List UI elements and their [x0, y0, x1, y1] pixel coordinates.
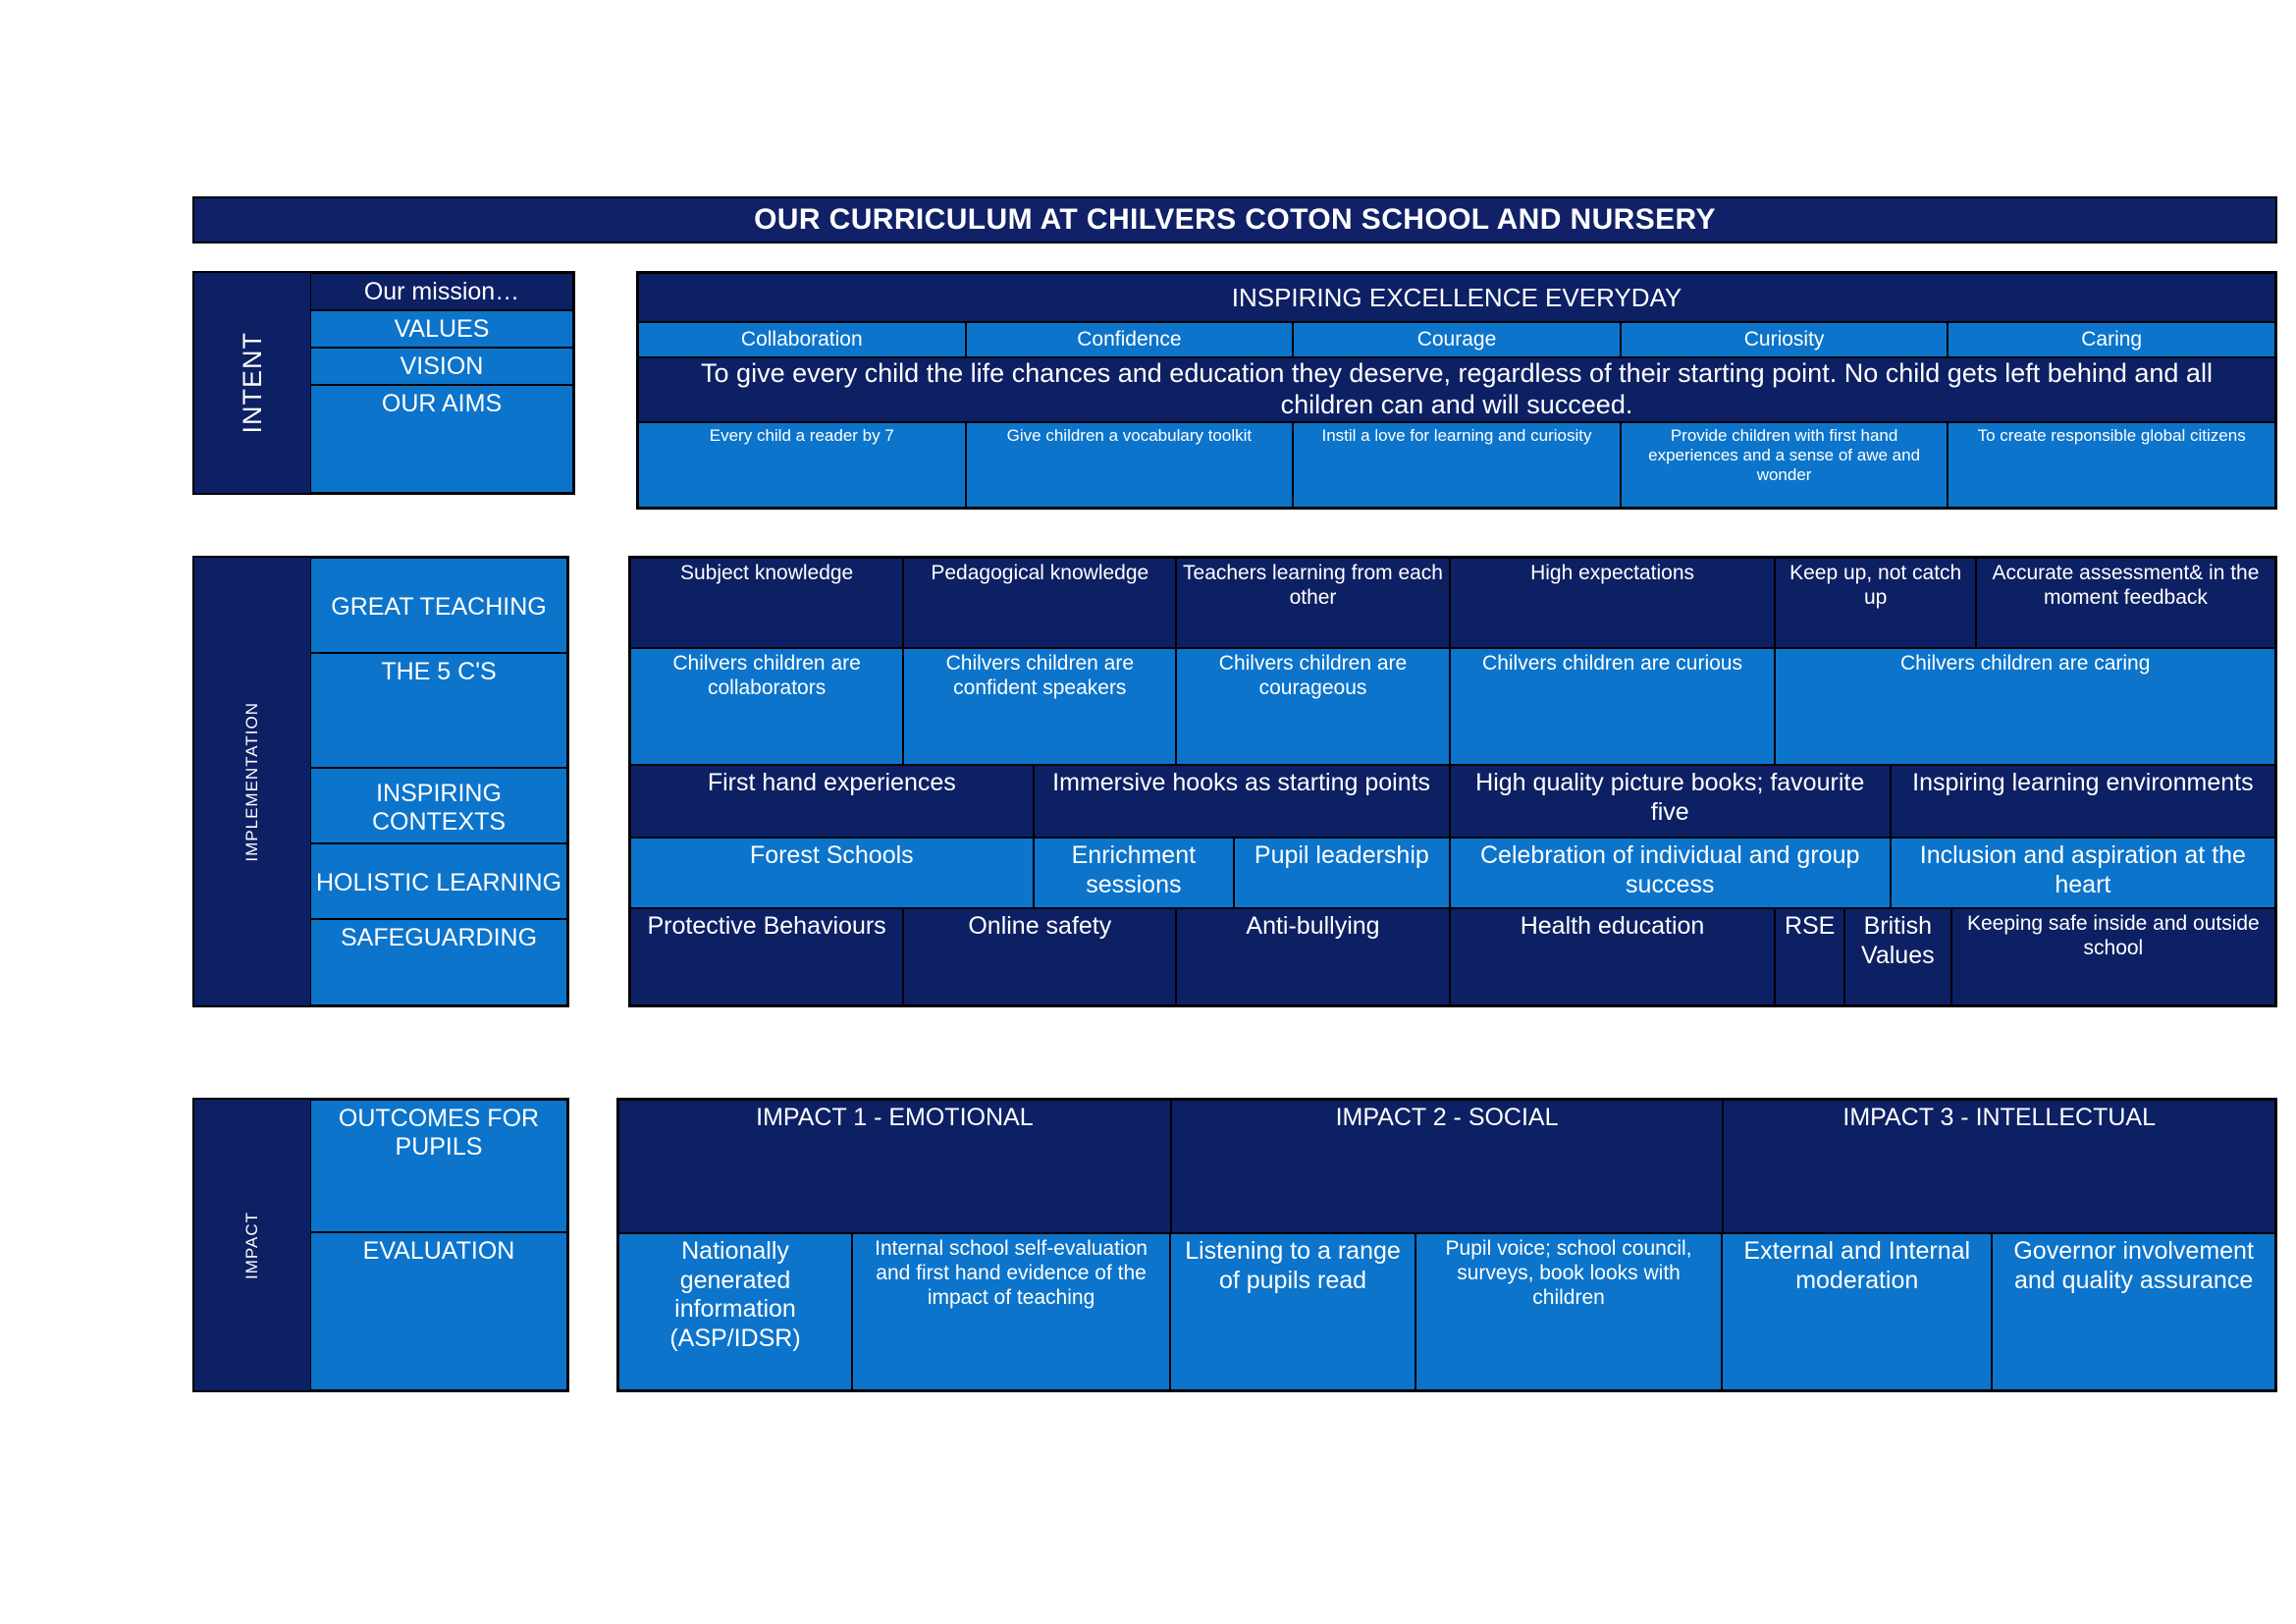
- sg-protective-behaviours[interactable]: Protective Behaviours: [630, 908, 903, 1005]
- impact-evaluation-row: Nationally generated information (ASP/ID…: [618, 1233, 2275, 1390]
- hl-forest-schools[interactable]: Forest Schools: [630, 838, 1034, 908]
- fivec-collaborators[interactable]: Chilvers children are collaborators: [630, 648, 903, 765]
- implementation-content: Subject knowledge Pedagogical knowledge …: [628, 556, 2277, 1007]
- hl-pupil-leadership[interactable]: Pupil leadership: [1234, 838, 1450, 908]
- gt-high-expectations[interactable]: High expectations: [1450, 558, 1776, 648]
- five-cs-row: Chilvers children are collaborators Chil…: [630, 648, 2275, 765]
- impact-label-block: IMPACT OUTCOMES FOR PUPILS EVALUATION: [192, 1098, 569, 1392]
- sg-health-education[interactable]: Health education: [1450, 908, 1776, 1005]
- eval-pupil-voice[interactable]: Pupil voice; school council, surveys, bo…: [1415, 1233, 1722, 1390]
- aim-reader-by-7[interactable]: Every child a reader by 7: [638, 422, 966, 508]
- gt-teachers-learning[interactable]: Teachers learning from each other: [1176, 558, 1449, 648]
- impact-sidebar: OUTCOMES FOR PUPILS EVALUATION: [310, 1100, 567, 1390]
- inspiring-contexts-row: First hand experiences Immersive hooks a…: [630, 765, 2275, 838]
- sidebar-item-evaluation[interactable]: EVALUATION: [310, 1232, 567, 1390]
- impact-outcomes-row: IMPACT 1 - EMOTIONAL IMPACT 2 - SOCIAL I…: [618, 1100, 2275, 1233]
- fivec-confident-speakers[interactable]: Chilvers children are confident speakers: [903, 648, 1176, 765]
- impact-axis-label-text: IMPACT: [242, 1212, 262, 1279]
- impact-1-emotional[interactable]: IMPACT 1 - EMOTIONAL: [618, 1100, 1171, 1233]
- impact-2-social[interactable]: IMPACT 2 - SOCIAL: [1171, 1100, 1724, 1233]
- implementation-label-block: IMPLEMENTATION GREAT TEACHING THE 5 C'S …: [192, 556, 569, 1007]
- ic-immersive-hooks[interactable]: Immersive hooks as starting points: [1034, 765, 1450, 838]
- impact-3-intellectual[interactable]: IMPACT 3 - INTELLECTUAL: [1723, 1100, 2275, 1233]
- sg-online-safety[interactable]: Online safety: [903, 908, 1176, 1005]
- eval-internal-self-evaluation[interactable]: Internal school self-evaluation and firs…: [852, 1233, 1170, 1390]
- sg-anti-bullying[interactable]: Anti-bullying: [1176, 908, 1449, 1005]
- gt-keep-up-not-catch-up[interactable]: Keep up, not catch up: [1775, 558, 1975, 648]
- sidebar-item-the-5-cs[interactable]: THE 5 C'S: [310, 653, 567, 768]
- value-confidence[interactable]: Confidence: [966, 322, 1294, 357]
- aim-vocabulary-toolkit[interactable]: Give children a vocabulary toolkit: [966, 422, 1294, 508]
- impact-axis-label: IMPACT: [194, 1100, 310, 1390]
- intent-vision-statement: To give every child the life chances and…: [638, 357, 2275, 422]
- hl-inclusion-aspiration[interactable]: Inclusion and aspiration at the heart: [1891, 838, 2275, 908]
- sidebar-item-inspiring-contexts[interactable]: INSPIRING CONTEXTS: [310, 768, 567, 843]
- eval-listening-pupils-read[interactable]: Listening to a range of pupils read: [1170, 1233, 1415, 1390]
- aim-global-citizens[interactable]: To create responsible global citizens: [1948, 422, 2275, 508]
- curriculum-diagram: OUR CURRICULUM AT CHILVERS COTON SCHOOL …: [0, 0, 2296, 1624]
- ic-picture-books[interactable]: High quality picture books; favourite fi…: [1450, 765, 1891, 838]
- sg-british-values[interactable]: British Values: [1844, 908, 1951, 1005]
- value-caring[interactable]: Caring: [1948, 322, 2275, 357]
- ic-inspiring-environments[interactable]: Inspiring learning environments: [1891, 765, 2275, 838]
- sidebar-item-values[interactable]: VALUES: [310, 310, 573, 348]
- eval-external-internal-moderation[interactable]: External and Internal moderation: [1722, 1233, 1992, 1390]
- implementation-axis-label: IMPLEMENTATION: [194, 558, 310, 1005]
- fivec-caring[interactable]: Chilvers children are caring: [1775, 648, 2275, 765]
- gt-subject-knowledge[interactable]: Subject knowledge: [630, 558, 903, 648]
- implementation-axis-label-text: IMPLEMENTATION: [242, 702, 262, 862]
- intent-banner: INSPIRING EXCELLENCE EVERYDAY: [638, 273, 2275, 322]
- great-teaching-row: Subject knowledge Pedagogical knowledge …: [630, 558, 2275, 648]
- value-collaboration[interactable]: Collaboration: [638, 322, 966, 357]
- intent-vision-row: To give every child the life chances and…: [638, 357, 2275, 422]
- aim-first-hand-experiences[interactable]: Provide children with first hand experie…: [1621, 422, 1949, 508]
- intent-sidebar: Our mission… VALUES VISION OUR AIMS: [310, 273, 573, 493]
- sg-rse[interactable]: RSE: [1775, 908, 1843, 1005]
- hl-enrichment-sessions[interactable]: Enrichment sessions: [1034, 838, 1234, 908]
- page-title: OUR CURRICULUM AT CHILVERS COTON SCHOOL …: [754, 203, 1716, 237]
- sidebar-item-safeguarding[interactable]: SAFEGUARDING: [310, 919, 567, 1005]
- intent-values-row: Collaboration Confidence Courage Curiosi…: [638, 322, 2275, 357]
- fivec-curious[interactable]: Chilvers children are curious: [1450, 648, 1776, 765]
- holistic-learning-row: Forest Schools Enrichment sessions Pupil…: [630, 838, 2275, 908]
- sidebar-item-holistic-learning[interactable]: HOLISTIC LEARNING: [310, 843, 567, 919]
- sg-keeping-safe[interactable]: Keeping safe inside and outside school: [1951, 908, 2275, 1005]
- eval-governor-involvement[interactable]: Governor involvement and quality assuran…: [1992, 1233, 2275, 1390]
- safeguarding-row: Protective Behaviours Online safety Anti…: [630, 908, 2275, 1005]
- implementation-sidebar: GREAT TEACHING THE 5 C'S INSPIRING CONTE…: [310, 558, 567, 1005]
- page-title-bar: OUR CURRICULUM AT CHILVERS COTON SCHOOL …: [192, 196, 2277, 244]
- sidebar-item-outcomes-for-pupils[interactable]: OUTCOMES FOR PUPILS: [310, 1100, 567, 1232]
- impact-content: IMPACT 1 - EMOTIONAL IMPACT 2 - SOCIAL I…: [616, 1098, 2277, 1392]
- aim-love-for-learning[interactable]: Instil a love for learning and curiosity: [1293, 422, 1621, 508]
- intent-aims-row: Every child a reader by 7 Give children …: [638, 422, 2275, 508]
- gt-accurate-assessment[interactable]: Accurate assessment& in the moment feedb…: [1976, 558, 2275, 648]
- eval-nationally-generated[interactable]: Nationally generated information (ASP/ID…: [618, 1233, 852, 1390]
- sidebar-item-great-teaching[interactable]: GREAT TEACHING: [310, 558, 567, 653]
- value-courage[interactable]: Courage: [1293, 322, 1621, 357]
- intent-label-block: INTENT Our mission… VALUES VISION OUR AI…: [192, 271, 575, 495]
- fivec-courageous[interactable]: Chilvers children are courageous: [1176, 648, 1449, 765]
- sidebar-item-our-mission[interactable]: Our mission…: [310, 273, 573, 310]
- sidebar-item-our-aims[interactable]: OUR AIMS: [310, 385, 573, 493]
- intent-banner-row: INSPIRING EXCELLENCE EVERYDAY: [638, 273, 2275, 322]
- hl-celebration-of-success[interactable]: Celebration of individual and group succ…: [1450, 838, 1891, 908]
- intent-axis-label-text: INTENT: [238, 332, 268, 434]
- gt-pedagogical-knowledge[interactable]: Pedagogical knowledge: [903, 558, 1176, 648]
- intent-content: INSPIRING EXCELLENCE EVERYDAY Collaborat…: [636, 271, 2277, 510]
- value-curiosity[interactable]: Curiosity: [1621, 322, 1949, 357]
- intent-axis-label: INTENT: [194, 273, 310, 493]
- ic-first-hand-experiences[interactable]: First hand experiences: [630, 765, 1034, 838]
- sidebar-item-vision[interactable]: VISION: [310, 348, 573, 385]
